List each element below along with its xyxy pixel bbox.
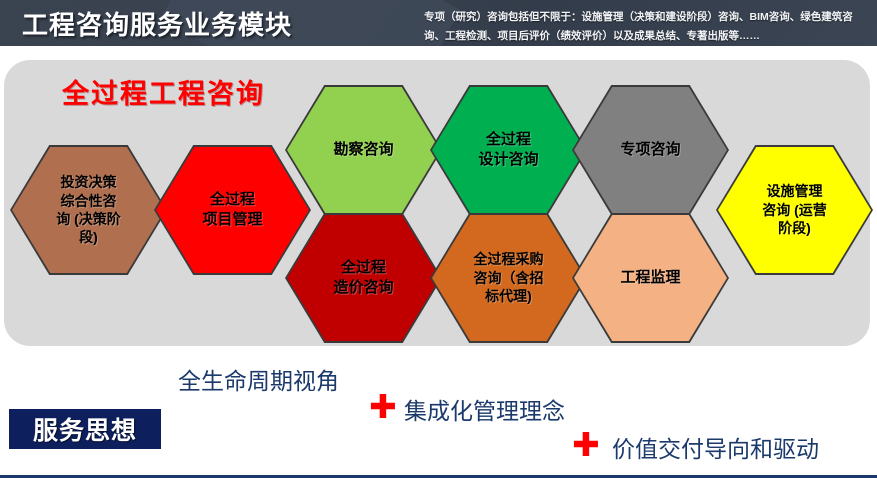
hexagon-construction-supervision[interactable]: 工程监理 xyxy=(574,215,727,341)
hexagon-label: 全过程 项目管理 xyxy=(196,190,268,230)
hexagon-label: 全过程 设计咨询 xyxy=(472,130,544,170)
slogan-value-delivery: 价值交付导向和驱动 xyxy=(612,430,819,464)
page-title: 工程咨询服务业务模块 xyxy=(22,5,292,42)
hexagon-whole-process-cost-consulting[interactable]: 全过程 造价咨询 xyxy=(287,215,440,341)
hexagon-label: 投资决策 综合性咨 询 (决策阶 段) xyxy=(50,173,127,247)
header-note-text: 专项（研究）咨询包括但不限于：设施管理（决策和建设阶段）咨询、BIM咨询、绿色建… xyxy=(424,8,864,46)
plus-icon-2: ✚ xyxy=(572,428,600,461)
hexagon-label: 专项咨询 xyxy=(614,140,686,160)
slogan-integrated-management: 集成化管理理念 xyxy=(404,392,565,426)
hexagon-investment-decision[interactable]: 投资决策 综合性咨 询 (决策阶 段) xyxy=(12,147,165,273)
hexagon-special-consulting[interactable]: 专项咨询 xyxy=(574,87,727,213)
hexagon-label: 勘察咨询 xyxy=(327,140,399,160)
hexagon-facility-management[interactable]: 设施管理 咨询 (运营 阶段) xyxy=(718,147,871,273)
plus-icon-1: ✚ xyxy=(369,390,397,423)
hexagon-label: 设施管理 咨询 (运营 阶段) xyxy=(756,182,833,237)
hexagon-label: 工程监理 xyxy=(614,268,686,288)
hexagon-survey-consulting[interactable]: 勘察咨询 xyxy=(287,87,440,213)
hexagon-whole-process-design-consulting[interactable]: 全过程 设计咨询 xyxy=(432,87,585,213)
panel-title: 全过程工程咨询 xyxy=(62,72,265,111)
service-thought-badge: 服务思想 xyxy=(9,409,161,449)
service-thought-label: 服务思想 xyxy=(33,411,137,447)
hexagon-whole-process-procurement-consulting[interactable]: 全过程采购 咨询（含招 标代理) xyxy=(432,215,585,341)
hexagon-whole-process-project-management[interactable]: 全过程 项目管理 xyxy=(156,147,309,273)
hexagon-label: 全过程采购 咨询（含招 标代理) xyxy=(468,250,550,305)
header-bar: 工程咨询服务业务模块 专项（研究）咨询包括但不限于：设施管理（决策和建设阶段）咨… xyxy=(0,0,877,46)
diagram-panel: 全过程工程咨询 投资决策 综合性咨 询 (决策阶 段)全过程 项目管理勘察咨询全… xyxy=(4,60,870,346)
slogan-lifecycle: 全生命周期视角 xyxy=(178,362,339,396)
hexagon-label: 全过程 造价咨询 xyxy=(327,258,399,298)
